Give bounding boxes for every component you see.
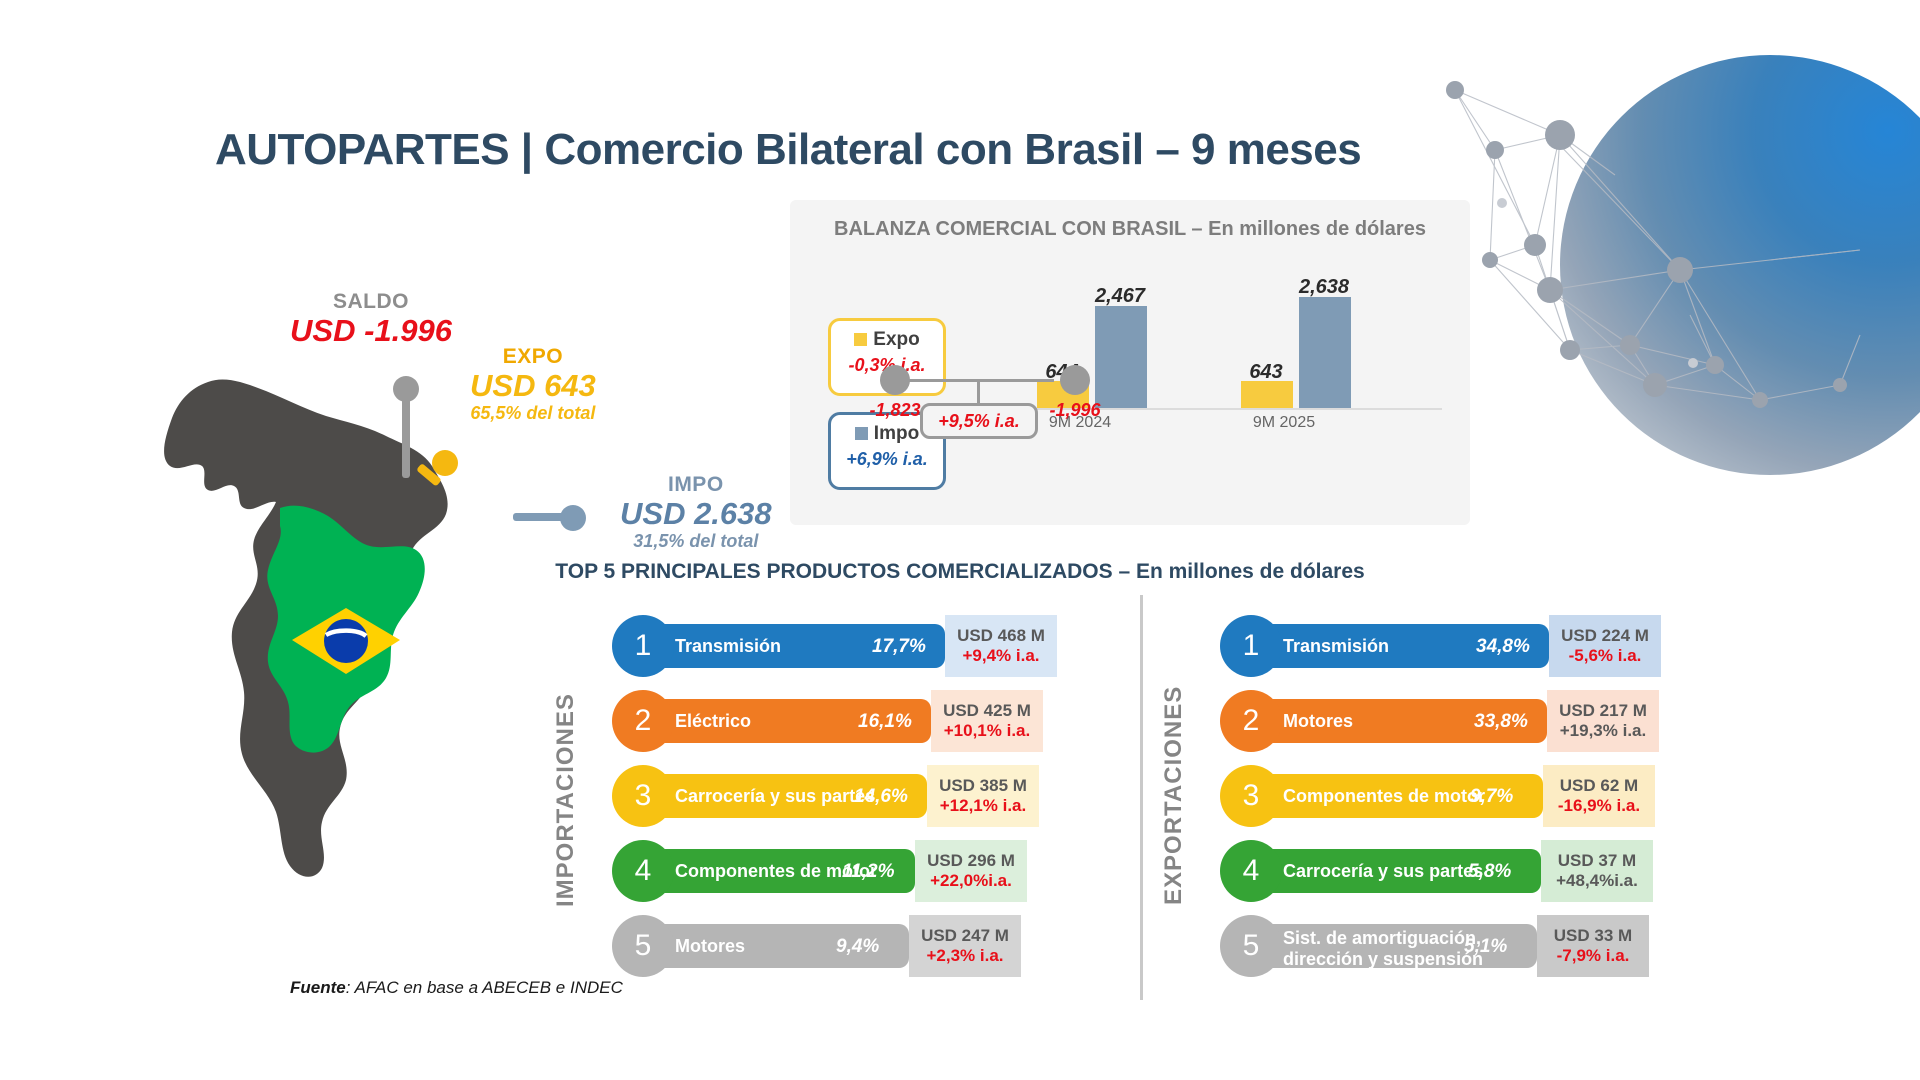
rank-percentage: 34,8% bbox=[1476, 636, 1530, 658]
rank-product-name: Transmisión bbox=[1283, 636, 1389, 657]
rank-percentage: 5,8% bbox=[1468, 861, 1511, 883]
value-box: USD 33 M-7,9% i.a. bbox=[1537, 915, 1649, 977]
legend-expo-swatch-icon bbox=[854, 333, 867, 346]
value-box: USD 62 M-16,9% i.a. bbox=[1543, 765, 1655, 827]
rank-number-badge: 1 bbox=[612, 615, 674, 677]
callout-expo-sub: 65,5% del total bbox=[470, 403, 596, 423]
rank-number-badge: 5 bbox=[1220, 915, 1282, 977]
value-variation: +12,1% i.a. bbox=[940, 796, 1026, 816]
value-variation: +2,3% i.a. bbox=[926, 946, 1003, 966]
rank-product-name: Transmisión bbox=[675, 636, 781, 657]
rank-number-badge: 2 bbox=[612, 690, 674, 752]
legend-expo-row: Expo bbox=[831, 329, 943, 351]
value-usd: USD 62 M bbox=[1560, 776, 1638, 796]
callout-saldo-value: USD -1.996 bbox=[290, 314, 452, 349]
callout-expo: EXPO USD 643 65,5% del total bbox=[470, 345, 596, 423]
rank-percentage: 14,6% bbox=[854, 786, 908, 808]
rank-percentage: 5,1% bbox=[1464, 936, 1507, 958]
rank-row[interactable]: 2Eléctrico16,1%USD 425 M+10,1% i.a. bbox=[612, 690, 1045, 752]
rank-product-name: Componentes de motor bbox=[1283, 786, 1485, 807]
rank-row[interactable]: 3Carrocería y sus partes14,6%USD 385 M+1… bbox=[612, 765, 1041, 827]
value-usd: USD 385 M bbox=[939, 776, 1027, 796]
value-variation: -7,9% i.a. bbox=[1557, 946, 1630, 966]
rank-number-badge: 4 bbox=[612, 840, 674, 902]
rank-product-name: Motores bbox=[675, 936, 745, 957]
balanza-comercial-chart-panel: BALANZA COMERCIAL CON BRASIL – En millon… bbox=[790, 200, 1470, 525]
fuente-prefix: Fuente bbox=[290, 978, 346, 997]
bar-impo-2025 bbox=[1299, 297, 1351, 408]
rank-product-name: Carrocería y sus partes bbox=[675, 786, 875, 807]
value-usd: USD 33 M bbox=[1554, 926, 1632, 946]
value-usd: USD 224 M bbox=[1561, 626, 1649, 646]
bar-label-impo-2024: 2,467 bbox=[1080, 285, 1160, 308]
value-variation: +22,0%i.a. bbox=[930, 871, 1012, 891]
value-box: USD 296 M+22,0%i.a. bbox=[915, 840, 1027, 902]
value-variation: +10,1% i.a. bbox=[944, 721, 1030, 741]
value-box: USD 425 M+10,1% i.a. bbox=[931, 690, 1043, 752]
top5-title-text: TOP 5 PRINCIPALES PRODUCTOS COMERCIALIZA… bbox=[555, 560, 1364, 584]
rank-row[interactable]: 1Transmisión17,7%USD 468 M+9,4% i.a. bbox=[612, 615, 1059, 677]
axis-label-importaciones: IMPORTACIONES bbox=[552, 620, 580, 980]
value-usd: USD 217 M bbox=[1559, 701, 1647, 721]
value-usd: USD 247 M bbox=[921, 926, 1009, 946]
saldo-connector-tick bbox=[977, 379, 980, 405]
saldo-dot-2025 bbox=[1060, 365, 1090, 395]
rank-number-badge: 3 bbox=[612, 765, 674, 827]
callout-impo-label: IMPO bbox=[620, 473, 772, 497]
value-usd: USD 468 M bbox=[957, 626, 1045, 646]
column-divider bbox=[1140, 595, 1143, 1000]
rank-percentage: 16,1% bbox=[858, 711, 912, 733]
value-usd: USD 37 M bbox=[1558, 851, 1636, 871]
rank-number-badge: 3 bbox=[1220, 765, 1282, 827]
rank-number-badge: 4 bbox=[1220, 840, 1282, 902]
value-variation: -16,9% i.a. bbox=[1558, 796, 1640, 816]
value-box: USD 468 M+9,4% i.a. bbox=[945, 615, 1057, 677]
legend-impo-label: Impo bbox=[874, 423, 919, 444]
value-usd: USD 296 M bbox=[927, 851, 1015, 871]
value-variation: +9,4% i.a. bbox=[962, 646, 1039, 666]
bar-expo-2025 bbox=[1241, 381, 1293, 408]
value-box: USD 37 M+48,4%i.a. bbox=[1541, 840, 1653, 902]
legend-impo-variation: +6,9% i.a. bbox=[831, 449, 943, 470]
callout-expo-value: USD 643 bbox=[470, 369, 596, 404]
rank-product-name: Carrocería y sus partes bbox=[1283, 861, 1483, 882]
legend-expo-label: Expo bbox=[873, 329, 919, 350]
rank-row[interactable]: 3Componentes de motor9,7%USD 62 M-16,9% … bbox=[1220, 765, 1657, 827]
axis-label-exportaciones: EXPORTACIONES bbox=[1160, 615, 1188, 975]
pin-head-expo bbox=[432, 450, 458, 476]
rank-row[interactable]: 5Sist. de amortiguación,dirección y susp… bbox=[1220, 915, 1651, 977]
value-box: USD 224 M-5,6% i.a. bbox=[1549, 615, 1661, 677]
rank-row[interactable]: 5Motores9,4%USD 247 M+2,3% i.a. bbox=[612, 915, 1023, 977]
fuente-note: Fuente: AFAC en base a ABECEB e INDEC bbox=[290, 978, 623, 998]
legend-impo-swatch-icon bbox=[855, 427, 868, 440]
rank-row[interactable]: 2Motores33,8%USD 217 M+19,3% i.a. bbox=[1220, 690, 1661, 752]
bar-impo-2024 bbox=[1095, 306, 1147, 408]
callout-saldo: SALDO USD -1.996 bbox=[290, 290, 452, 348]
rank-number-badge: 5 bbox=[612, 915, 674, 977]
value-box: USD 217 M+19,3% i.a. bbox=[1547, 690, 1659, 752]
rank-product-name: Eléctrico bbox=[675, 711, 751, 732]
top5-title: TOP 5 PRINCIPALES PRODUCTOS COMERCIALIZA… bbox=[0, 560, 1920, 584]
pin-stem-saldo bbox=[402, 392, 410, 478]
callout-impo-value: USD 2.638 bbox=[620, 497, 772, 532]
rank-product-name: Motores bbox=[1283, 711, 1353, 732]
value-usd: USD 425 M bbox=[943, 701, 1031, 721]
rank-percentage: 11,2% bbox=[842, 861, 894, 883]
rank-percentage: 9,4% bbox=[836, 936, 879, 958]
pin-stem-impo bbox=[513, 513, 565, 521]
rank-product-name: Sist. de amortiguación,dirección y suspe… bbox=[1283, 928, 1483, 969]
rank-row[interactable]: 4Componentes de motor11,2%USD 296 M+22,0… bbox=[612, 840, 1029, 902]
globe-network-decoration bbox=[1440, 55, 1920, 485]
axis-category-2025: 9M 2025 bbox=[1224, 414, 1344, 432]
page-title: AUTOPARTES | Comercio Bilateral con Bras… bbox=[215, 125, 1361, 175]
rank-number-badge: 1 bbox=[1220, 615, 1282, 677]
rank-percentage: 17,7% bbox=[872, 636, 926, 658]
value-box: USD 385 M+12,1% i.a. bbox=[927, 765, 1039, 827]
rank-row[interactable]: 1Transmisión34,8%USD 224 M-5,6% i.a. bbox=[1220, 615, 1663, 677]
chart-title: BALANZA COMERCIAL CON BRASIL – En millon… bbox=[790, 218, 1470, 241]
rank-percentage: 9,7% bbox=[1470, 786, 1513, 808]
rank-row[interactable]: 4Carrocería y sus partes5,8%USD 37 M+48,… bbox=[1220, 840, 1655, 902]
rank-number-badge: 2 bbox=[1220, 690, 1282, 752]
south-america-map bbox=[150, 340, 550, 900]
fuente-text: : AFAC en base a ABECEB e INDEC bbox=[346, 978, 623, 997]
value-box: USD 247 M+2,3% i.a. bbox=[909, 915, 1021, 977]
saldo-value-2025: -1,996 bbox=[1025, 400, 1125, 421]
bar-plot-area: 644 2,467 643 2,638 bbox=[985, 288, 1435, 408]
callout-impo: IMPO USD 2.638 31,5% del total bbox=[620, 473, 772, 551]
value-variation: +19,3% i.a. bbox=[1560, 721, 1646, 741]
bar-label-impo-2025: 2,638 bbox=[1284, 276, 1364, 299]
network-mesh-icon bbox=[1440, 55, 1920, 485]
rank-percentage: 33,8% bbox=[1474, 711, 1528, 733]
value-variation: +48,4%i.a. bbox=[1556, 871, 1638, 891]
callout-saldo-label: SALDO bbox=[290, 290, 452, 314]
value-variation: -5,6% i.a. bbox=[1569, 646, 1642, 666]
callout-impo-sub: 31,5% del total bbox=[620, 531, 772, 551]
callout-expo-label: EXPO bbox=[470, 345, 596, 369]
saldo-variation-chip: +9,5% i.a. bbox=[920, 403, 1038, 439]
